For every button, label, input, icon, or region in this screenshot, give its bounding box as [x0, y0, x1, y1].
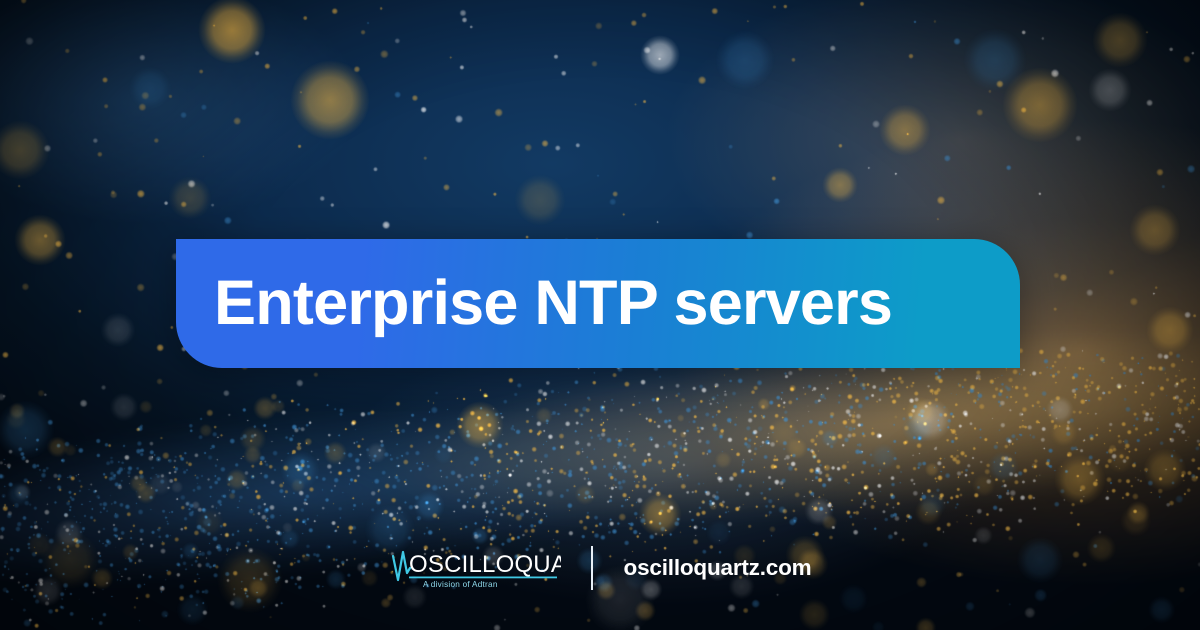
- footer-bar: OSCILLOQUARTZ A division of Adtran oscil…: [0, 540, 1200, 596]
- oscilloquartz-logo[interactable]: OSCILLOQUARTZ A division of Adtran: [389, 546, 561, 590]
- site-url-text[interactable]: oscilloquartz.com: [624, 557, 812, 580]
- logo-wordmark-text: OSCILLOQUARTZ: [409, 551, 561, 578]
- logo-tagline-text: A division of Adtran: [423, 580, 498, 589]
- logo-underline: [409, 577, 557, 579]
- social-card: Enterprise NTP servers OSCILLOQUARTZ A d…: [0, 0, 1200, 630]
- banner-title-text: Enterprise NTP servers: [176, 272, 892, 335]
- waveform-mark-icon: [393, 552, 410, 580]
- oscilloquartz-logo-svg: OSCILLOQUARTZ A division of Adtran: [389, 546, 561, 590]
- footer-divider: [591, 546, 593, 590]
- title-banner: Enterprise NTP servers: [176, 239, 1020, 368]
